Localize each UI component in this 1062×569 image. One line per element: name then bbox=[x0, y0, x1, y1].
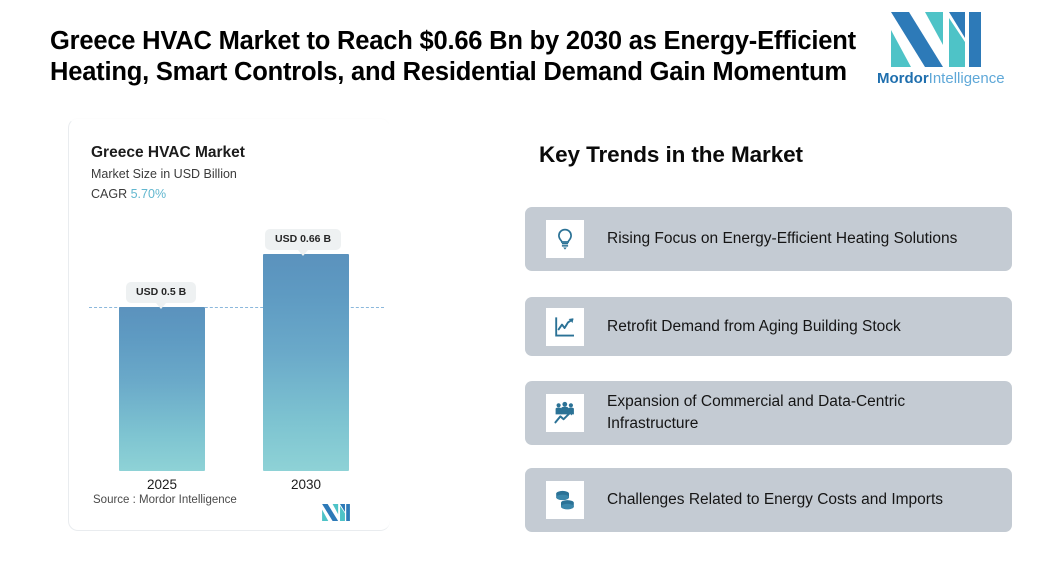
lightbulb-icon bbox=[553, 227, 577, 251]
trend-card-4-label: Challenges Related to Energy Costs and I… bbox=[607, 489, 943, 511]
logo-brand-bold: Mordor bbox=[877, 70, 929, 87]
mordor-intelligence-logo: MordorIntelligence bbox=[877, 12, 994, 92]
lightbulb-icon-tile bbox=[546, 220, 584, 258]
bar-label-2025: USD 0.5 B bbox=[126, 282, 196, 303]
line-chart-up-icon-tile bbox=[546, 308, 584, 346]
chart-card: Greece HVAC Market Market Size in USD Bi… bbox=[68, 118, 390, 531]
trend-card-3-label: Expansion of Commercial and Data-Centric… bbox=[607, 391, 998, 435]
coins-icon bbox=[553, 488, 577, 512]
trend-card-1[interactable]: Rising Focus on Energy-Efficient Heating… bbox=[525, 207, 1012, 271]
trend-card-2[interactable]: Retrofit Demand from Aging Building Stoc… bbox=[525, 297, 1012, 356]
bar-2025[interactable] bbox=[119, 307, 205, 471]
logo-brand-light: Intelligence bbox=[929, 70, 1005, 87]
line-chart-up-icon bbox=[553, 315, 577, 339]
bar-label-2030: USD 0.66 B bbox=[265, 229, 341, 250]
bar-2030[interactable] bbox=[263, 254, 349, 471]
page-title: Greece HVAC Market to Reach $0.66 Bn by … bbox=[50, 26, 860, 88]
people-growth-icon-tile bbox=[546, 394, 584, 432]
mordor-logo-mark bbox=[891, 12, 981, 67]
page-header: Greece HVAC Market to Reach $0.66 Bn by … bbox=[0, 0, 1062, 108]
people-growth-icon bbox=[553, 401, 577, 425]
coins-icon-tile bbox=[546, 481, 584, 519]
bar-chart-plot: USD 0.5 B 2025 USD 0.66 B 2030 bbox=[69, 119, 391, 532]
xaxis-label-2030: 2030 bbox=[251, 477, 361, 492]
coins-icon-card[interactable]: Challenges Related to Energy Costs and I… bbox=[525, 468, 1012, 532]
chart-source: Source : Mordor Intelligence bbox=[93, 494, 237, 506]
trend-card-1-label: Rising Focus on Energy-Efficient Heating… bbox=[607, 228, 957, 250]
xaxis-label-2025: 2025 bbox=[107, 477, 217, 492]
trend-card-2-label: Retrofit Demand from Aging Building Stoc… bbox=[607, 316, 901, 338]
trends-heading: Key Trends in the Market bbox=[539, 142, 803, 168]
mordor-logo-wordmark: MordorIntelligence bbox=[877, 70, 994, 87]
mordor-source-logo-mark bbox=[321, 504, 351, 521]
trend-card-3[interactable]: Expansion of Commercial and Data-Centric… bbox=[525, 381, 1012, 445]
